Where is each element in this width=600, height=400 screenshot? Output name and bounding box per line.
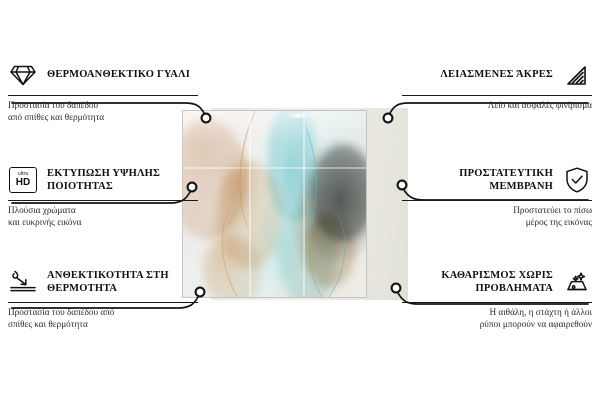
divider (402, 200, 592, 201)
feature-title: ΑΝΘΕΚΤΙΚΟΤΗΤΑ ΣΤΗ ΘΕΡΜΟΤΗΤΑ (47, 269, 198, 296)
divider (8, 302, 198, 303)
ultra-hd-icon: ultra HD (8, 165, 38, 195)
feature-header: ΚΑΘΑΡΙΣΜΟΣ ΧΩΡΙΣ ΠΡΟΒΛΗΜΑΤΑ (402, 265, 592, 299)
shield-check-icon (562, 165, 592, 195)
hatched-triangle-icon (562, 60, 592, 90)
divider (402, 95, 592, 96)
divider (8, 200, 198, 201)
feature-description: Πλούσια χρώματα και ευκρινής εικόνα (8, 205, 198, 228)
feature-description-line-1: Πλούσια χρώματα (8, 205, 198, 217)
feature-description-line-1: Προστατεύει το πίσω (402, 205, 592, 217)
feature-header: ΛΕΙΑΣΜΕΝΕΣ ΆΚΡΕΣ (402, 58, 592, 92)
flame-deflect-icon (8, 267, 38, 297)
feature-header: ΑΝΘΕΚΤΙΚΟΤΗΤΑ ΣΤΗ ΘΕΡΜΟΤΗΤΑ (8, 265, 198, 299)
feature-description-line-2: και ευκρινής εικόνα (8, 217, 198, 229)
divider (402, 302, 592, 303)
feature-header: ultra HD ΕΚΤΥΠΩΣΗ ΥΨΗΛΗΣ ΠΟΙΟΤΗΤΑΣ (8, 163, 198, 197)
sponge-sparkle-icon (562, 267, 592, 297)
product-image (183, 108, 408, 300)
feature-title: ΚΑΘΑΡΙΣΜΟΣ ΧΩΡΙΣ ΠΡΟΒΛΗΜΑΤΑ (402, 269, 553, 296)
ultra-hd-icon-bottom-text: HD (16, 178, 30, 188)
feature-heat-resistant: ΑΝΘΕΚΤΙΚΟΤΗΤΑ ΣΤΗ ΘΕΡΜΟΤΗΤΑ Προστασία το… (8, 265, 198, 330)
feature-description: Προστασία του δαπέδου από σπίθες και θερ… (8, 307, 198, 330)
feature-description-line-2: από σπίθες και θερμότητα (8, 112, 198, 124)
feature-description-line-2: ρύποι μπορούν να αφαιρεθούν (402, 319, 592, 331)
feature-description-line-1: Προστασία του δαπέδου (8, 100, 198, 112)
infographic-canvas: ΘΕΡΜΟΑΝΘΕΚΤΙΚΟ ΓΥΑΛΙ Προστασία του δαπέδ… (0, 0, 600, 400)
feature-description-line-1: Λείο και ασφαλές φινίρισμα (402, 100, 592, 112)
feature-description-line-2: μέρος της εικόνας (402, 217, 592, 229)
feature-header: ΘΕΡΜΟΑΝΘΕΚΤΙΚΟ ΓΥΑΛΙ (8, 58, 198, 92)
diamond-icon (8, 60, 38, 90)
feature-hd-print: ultra HD ΕΚΤΥΠΩΣΗ ΥΨΗΛΗΣ ΠΟΙΟΤΗΤΑΣ Πλούσ… (8, 163, 198, 228)
feature-easy-clean: ΚΑΘΑΡΙΣΜΟΣ ΧΩΡΙΣ ΠΡΟΒΛΗΜΑΤΑ Η αιθάλη, η … (402, 265, 592, 330)
feature-description-line-1: Η αιθάλη, η στάχτη ή άλλοι (402, 307, 592, 319)
feature-description: Προστασία του δαπέδου από σπίθες και θερ… (8, 100, 198, 123)
feature-description: Η αιθάλη, η στάχτη ή άλλοι ρύποι μπορούν… (402, 307, 592, 330)
feature-description-line-1: Προστασία του δαπέδου από (8, 307, 198, 319)
feature-description: Λείο και ασφαλές φινίρισμα (402, 100, 592, 112)
feature-description: Προστατεύει το πίσω μέρος της εικόνας (402, 205, 592, 228)
glass-panel-artwork (183, 111, 366, 297)
feature-title: ΕΚΤΥΠΩΣΗ ΥΨΗΛΗΣ ΠΟΙΟΤΗΤΑΣ (47, 167, 198, 194)
divider (8, 95, 198, 96)
feature-title: ΘΕΡΜΟΑΝΘΕΚΤΙΚΟ ΓΥΑΛΙ (47, 68, 198, 82)
feature-description-line-2: σπίθες και θερμότητα (8, 319, 198, 331)
feature-title: ΛΕΙΑΣΜΕΝΕΣ ΆΚΡΕΣ (402, 68, 553, 82)
feature-smooth-edges: ΛΕΙΑΣΜΕΝΕΣ ΆΚΡΕΣ Λείο και ασφαλές φινίρι… (402, 58, 592, 112)
feature-header: ΠΡΟΣΤΑΤΕΥΤΙΚΗ ΜΕΜΒΡΑΝΗ (402, 163, 592, 197)
feature-protective-film: ΠΡΟΣΤΑΤΕΥΤΙΚΗ ΜΕΜΒΡΑΝΗ Προστατεύει το πί… (402, 163, 592, 228)
feature-tempered-glass: ΘΕΡΜΟΑΝΘΕΚΤΙΚΟ ΓΥΑΛΙ Προστασία του δαπέδ… (8, 58, 198, 123)
feature-title: ΠΡΟΣΤΑΤΕΥΤΙΚΗ ΜΕΜΒΡΑΝΗ (402, 167, 553, 194)
